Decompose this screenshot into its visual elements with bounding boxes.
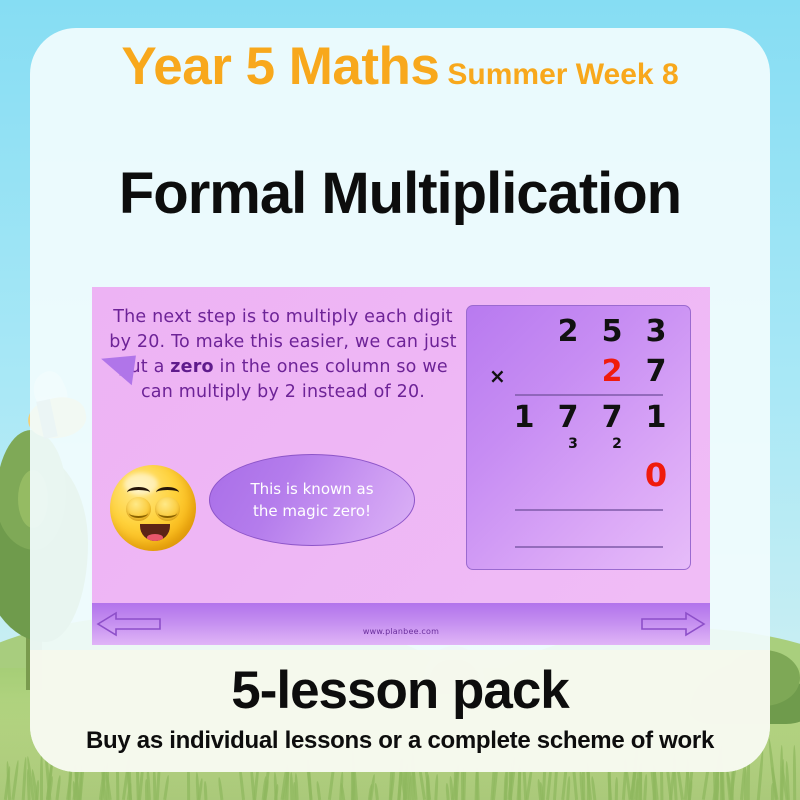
grass-blade [567,776,572,800]
partial-digit-ones: 1 [641,400,671,435]
grass-blade [273,772,277,800]
slide-url-label: www.planbee.com [92,627,710,636]
smiley-face-icon [110,465,196,551]
grass-blade [40,754,43,800]
grass-blade [615,777,618,800]
grass-blade [217,777,223,800]
grass-blade [374,782,379,800]
grass-blade [163,775,170,800]
calc-rule-bottom [515,546,663,548]
speech-bubble-tail [98,351,136,385]
carry-digit-2: 2 [607,436,627,452]
partial-digit-thousands: 1 [509,400,539,435]
grass-blade [315,781,320,800]
operand2-digit-ones: 7 [641,354,671,389]
speech-bubble: This is known as the magic zero! [209,454,415,546]
partial-digit-hundreds: 7 [553,400,583,435]
grass-blade [195,772,199,800]
carry-digit-1: 3 [563,436,583,452]
operand1-digit-tens: 5 [597,314,627,349]
calc-rule-top [515,394,663,396]
footer-title: 5-lesson pack [0,660,800,721]
slide-body-text: The next step is to multiply each digit … [108,305,458,405]
grass-blade [11,760,19,800]
grass-blade [290,772,294,800]
operand1-digit-ones: 3 [641,314,671,349]
speech-bubble-line1: This is known as [250,478,373,500]
grass-blade [643,774,647,800]
page-title: Formal Multiplication [0,160,800,227]
operand2-digit-tens: 2 [597,354,627,389]
column-multiplication-box: × 2 5 3 2 7 1 7 7 1 3 2 0 [466,305,691,570]
grass-blade [426,774,430,800]
partial-digit-tens: 7 [597,400,627,435]
header-title: Year 5 Maths [121,37,439,96]
header: Year 5 MathsSummer Week 8 [0,36,800,97]
speech-bubble-line2: the magic zero! [253,500,371,522]
header-subtitle: Summer Week 8 [447,58,678,91]
smiling-mouth-icon [140,524,170,541]
operand1-digit-hundreds: 2 [553,314,583,349]
calc-rule-middle [515,509,663,511]
grass-blade [204,781,208,800]
lesson-slide-preview[interactable]: The next step is to multiply each digit … [92,287,710,645]
slide-navigation-bar: www.planbee.com [92,603,710,645]
eye-right-icon [155,497,180,521]
eye-left-icon [126,497,151,521]
footer-subtitle: Buy as individual lessons or a complete … [0,727,800,755]
grass-blade [56,775,62,800]
magic-zero-digit: 0 [641,456,671,494]
slide-text-bold: zero [170,357,214,377]
poster: Year 5 MathsSummer Week 8 Formal Multipl… [0,0,800,800]
grass-blade [295,773,299,800]
grass-blade [434,774,438,800]
multiplication-operator: × [489,364,506,388]
